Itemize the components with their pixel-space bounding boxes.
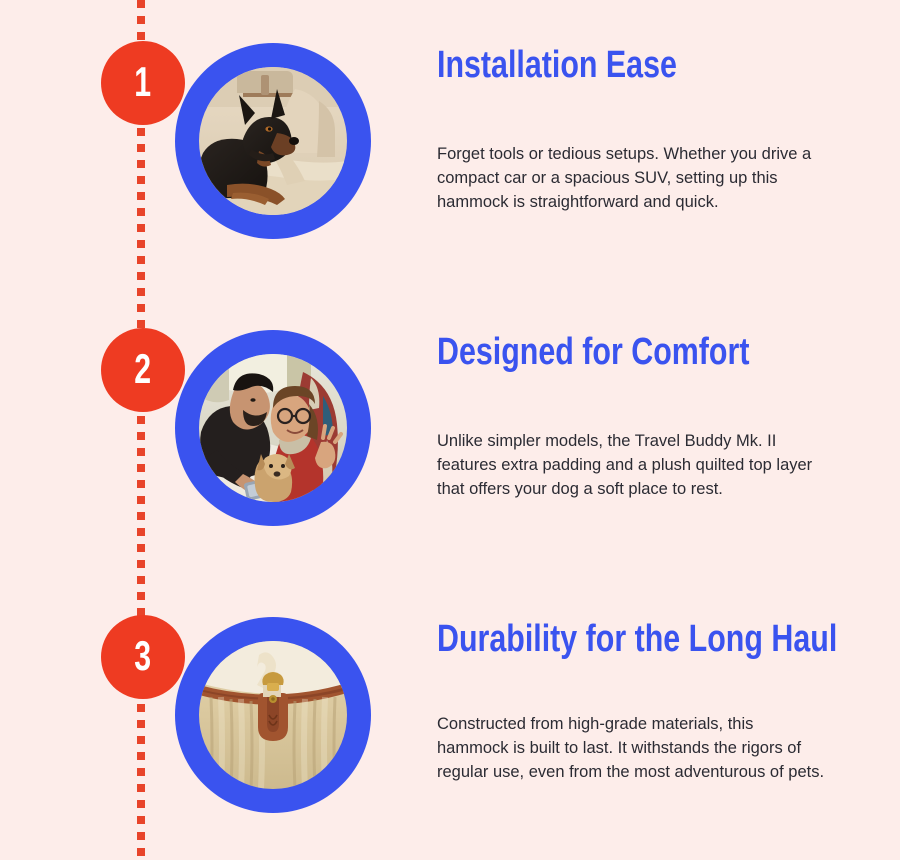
step-number-label: 2	[135, 348, 152, 390]
step-text-column: Designed for Comfort Unlike simpler mode…	[437, 331, 837, 501]
step-number-badge: 1	[101, 41, 185, 125]
step-photo	[199, 641, 347, 789]
step-text-column: Durability for the Long Haul Constructed…	[437, 618, 837, 784]
step-body-text: Forget tools or tedious setups. Whether …	[437, 86, 827, 214]
step-number-label: 1	[135, 61, 152, 103]
step-title: Durability for the Long Haul	[437, 618, 757, 660]
step-number-label: 3	[135, 635, 152, 677]
step-photo-ring	[175, 617, 371, 813]
doberman-dog-on-car-seat-hammock-image	[199, 67, 347, 215]
step-item: 3	[0, 574, 900, 860]
step-number-badge: 3	[101, 615, 185, 699]
step-title: Installation Ease	[437, 44, 757, 86]
step-item: 2	[0, 287, 900, 574]
quilted-beige-fabric-with-leather-trim-and-zipper-image	[199, 641, 347, 789]
couple-selfie-in-hammock-with-small-dog-image	[199, 354, 347, 502]
step-photo-ring	[175, 43, 371, 239]
steps-list: 1	[0, 0, 900, 860]
step-body-text: Unlike simpler models, the Travel Buddy …	[437, 373, 827, 501]
step-title: Designed for Comfort	[437, 331, 757, 373]
step-photo	[199, 354, 347, 502]
step-body-text: Constructed from high-grade materials, t…	[437, 660, 827, 784]
step-photo-ring	[175, 330, 371, 526]
step-photo	[199, 67, 347, 215]
step-number-badge: 2	[101, 328, 185, 412]
step-text-column: Installation Ease Forget tools or tediou…	[437, 44, 837, 214]
step-item: 1	[0, 0, 900, 287]
